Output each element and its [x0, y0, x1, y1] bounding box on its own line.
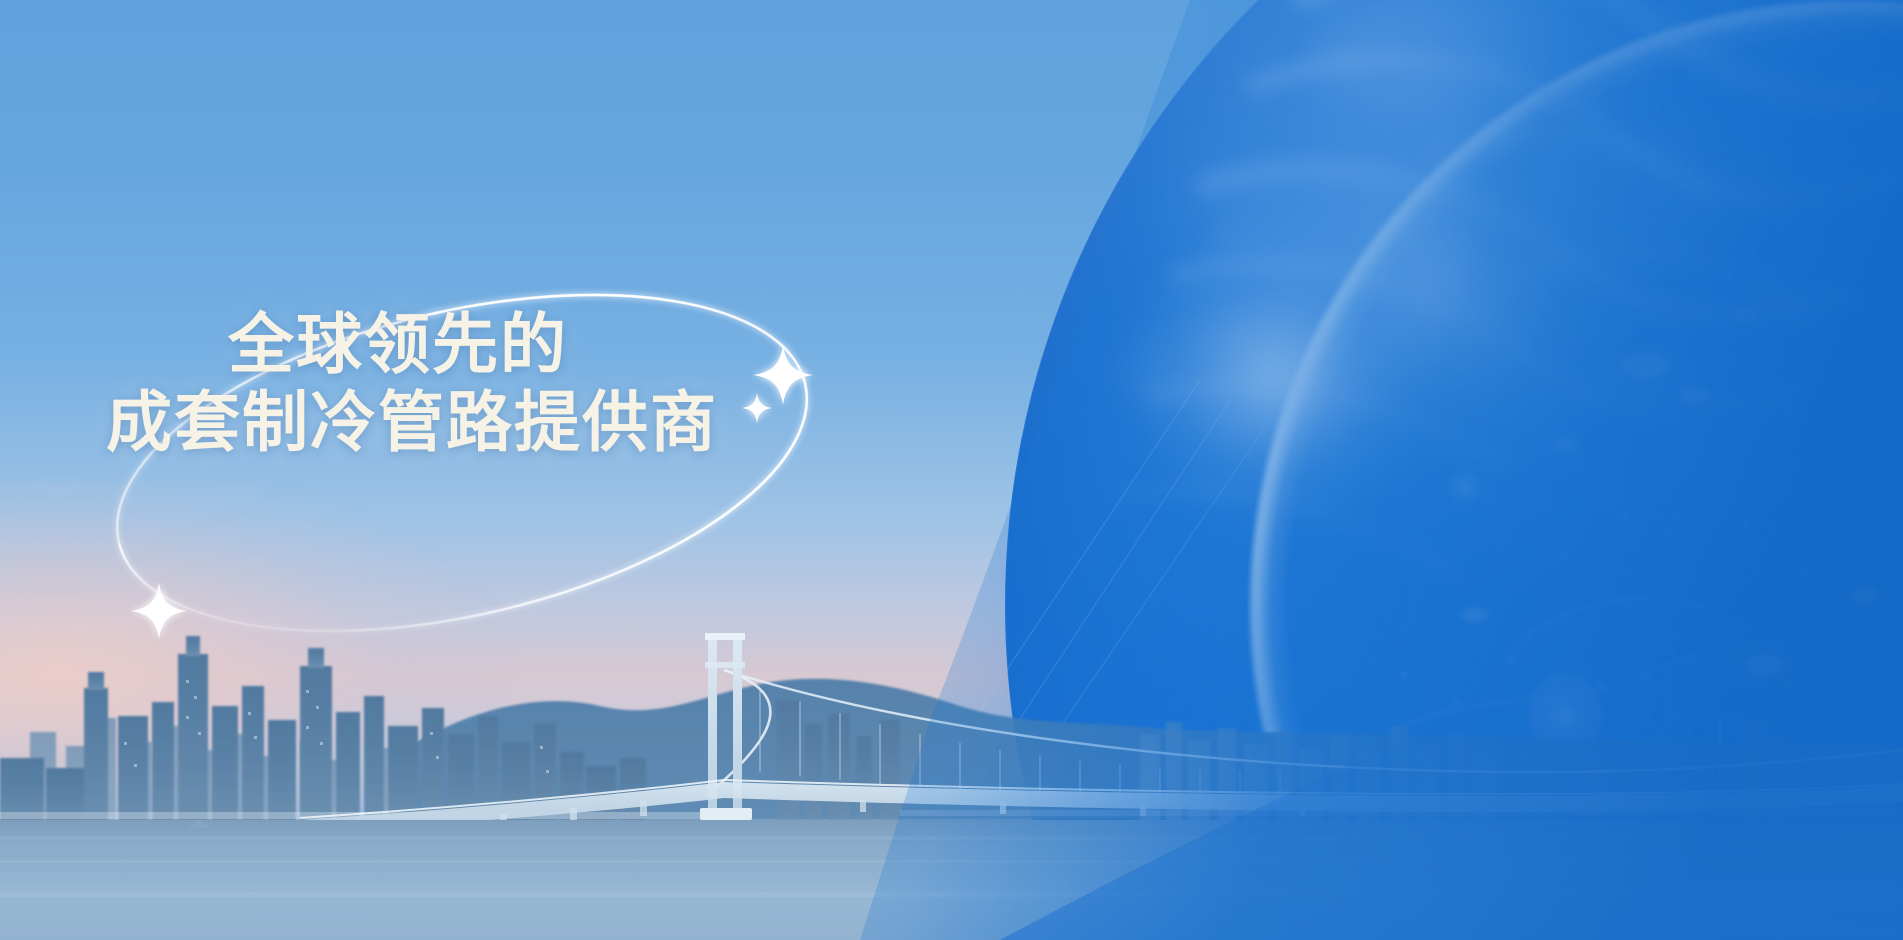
sun-hotspot [1120, 215, 1450, 545]
headline-line-1: 全球领先的 [228, 305, 866, 383]
earth-globe-group [0, 0, 1903, 940]
headline-line-2: 成套制冷管路提供商 [106, 383, 866, 461]
hero-banner: 全球领先的 成套制冷管路提供商 [0, 0, 1903, 940]
hero-headline: 全球领先的 成套制冷管路提供商 [106, 305, 866, 461]
